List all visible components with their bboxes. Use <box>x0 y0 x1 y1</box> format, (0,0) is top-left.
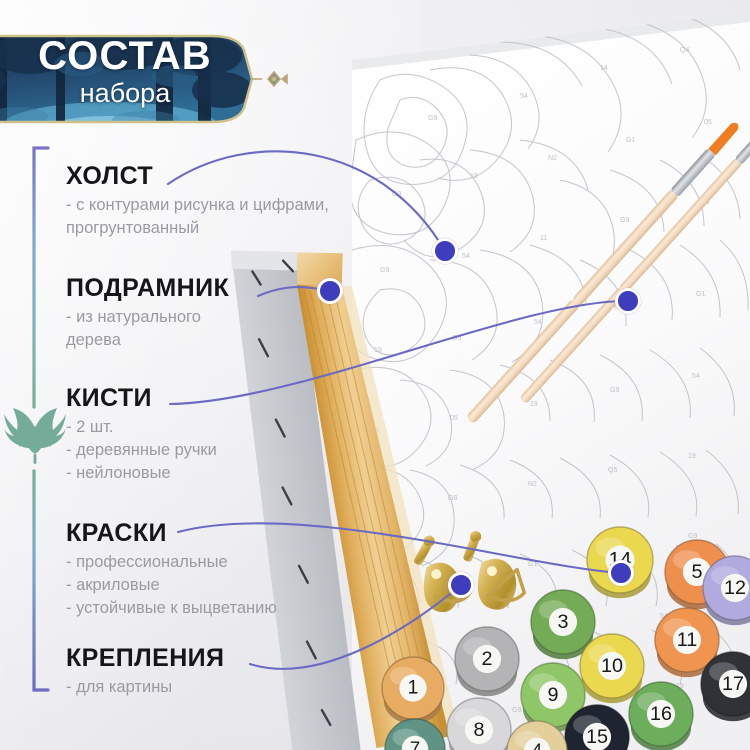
marker-dot-group <box>0 0 750 750</box>
marker-dot-podramnik <box>317 278 343 304</box>
marker-dot-kisti <box>615 288 641 314</box>
marker-dot-holst <box>432 238 458 264</box>
marker-dot-krepleniya <box>448 572 474 598</box>
infographic-root: G95414 Q4G919 N2G105 G95411 G9Q519 G954N… <box>0 0 750 750</box>
marker-dot-kraski <box>608 560 634 586</box>
